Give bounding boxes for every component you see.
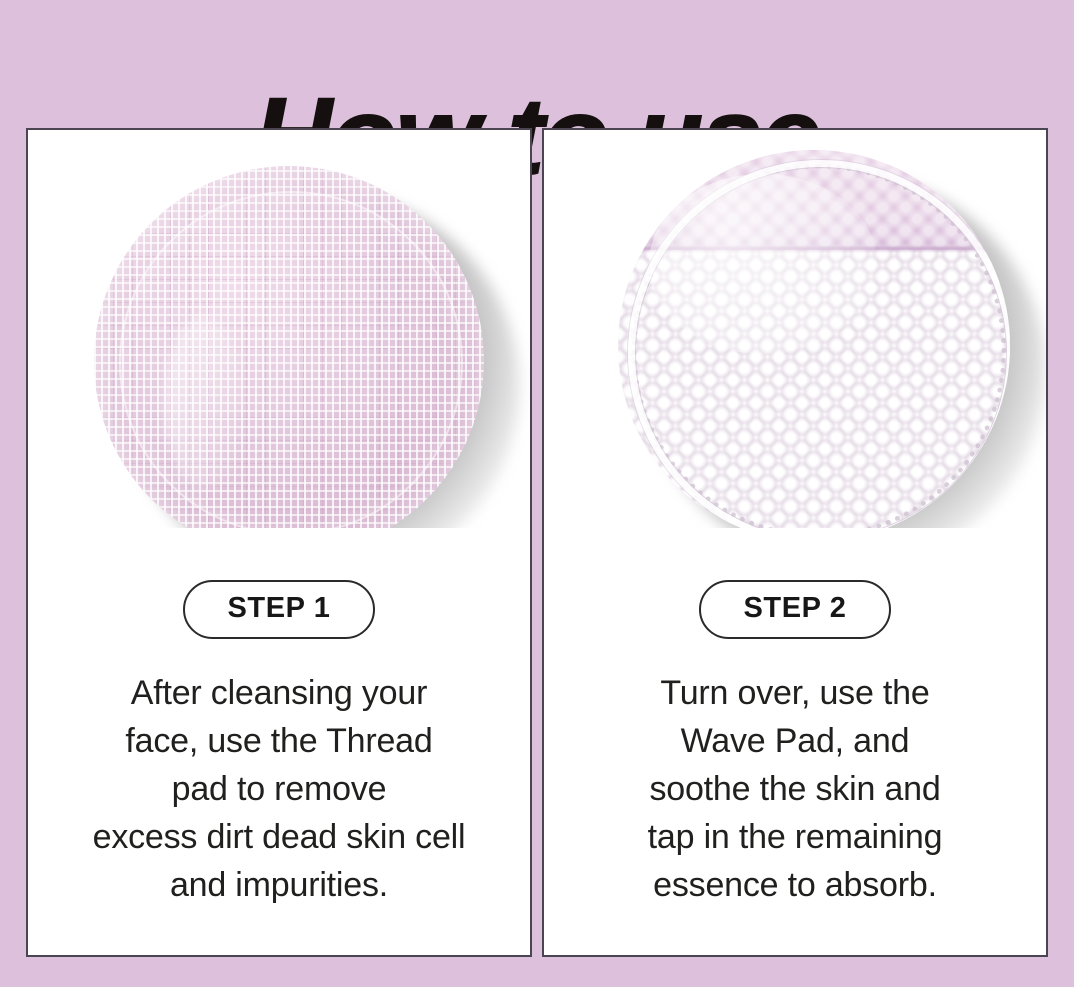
wave-pad-image [618,150,1010,528]
pad-fold-highlight [164,316,244,491]
step-badge-1[interactable]: STEP 1 [183,580,374,639]
step-description-1: After cleansing your face, use the Threa… [85,669,474,909]
step-description-2: Turn over, use the Wave Pad, and soothe … [640,669,951,909]
step-card-1: STEP 1 After cleansing your face, use th… [26,128,532,957]
step-badge-2[interactable]: STEP 2 [699,580,890,639]
product-photo-step-1 [28,130,530,528]
product-photo-step-2 [544,130,1046,528]
steps-container: STEP 1 After cleansing your face, use th… [26,128,1048,957]
step-card-2: STEP 2 Turn over, use the Wave Pad, and … [542,128,1048,957]
step-card-1-body: STEP 1 After cleansing your face, use th… [28,528,530,955]
pad-gloss-highlight [649,174,876,354]
step-card-2-body: STEP 2 Turn over, use the Wave Pad, and … [544,528,1046,955]
